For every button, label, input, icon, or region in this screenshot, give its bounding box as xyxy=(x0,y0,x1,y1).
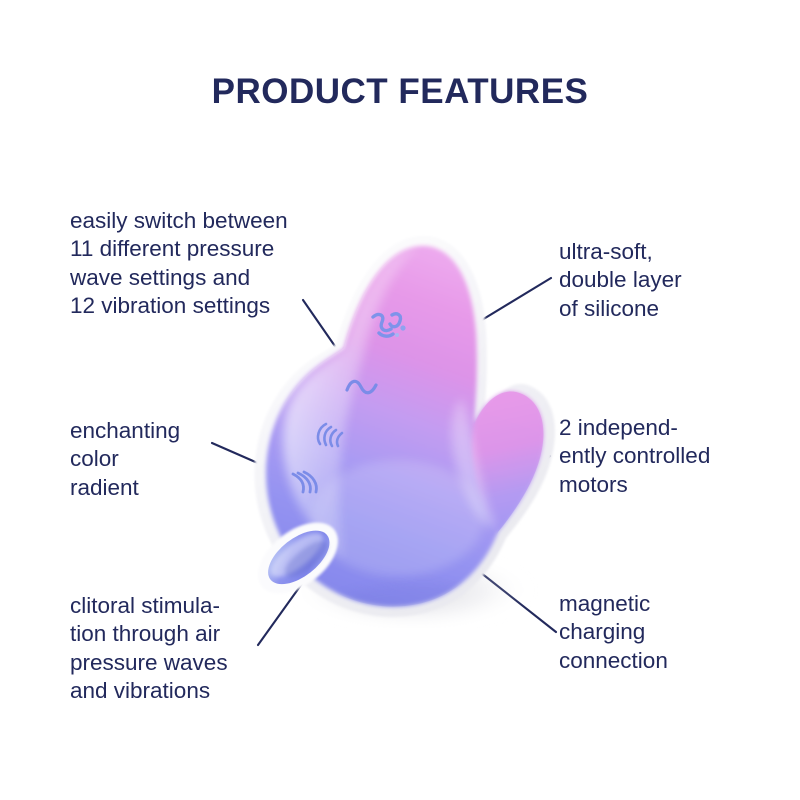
page-title: PRODUCT FEATURES xyxy=(0,74,800,109)
callout-settings-line-3: wave settings and xyxy=(70,264,288,292)
callout-charging-line-1: magnetic xyxy=(559,590,668,618)
callout-clitoral-stimulation: clitoral stimula- tion through air press… xyxy=(70,592,228,706)
callout-silicone-line-3: of silicone xyxy=(559,295,682,323)
callout-clitoral-line-2: tion through air xyxy=(70,620,228,648)
callout-gradient-line-3: radient xyxy=(70,474,180,502)
callout-gradient-line-2: color xyxy=(70,445,180,473)
callout-silicone: ultra-soft, double layer of silicone xyxy=(559,238,682,323)
callout-gradient: enchanting color radient xyxy=(70,417,180,502)
callout-clitoral-line-1: clitoral stimula- xyxy=(70,592,228,620)
callout-silicone-line-2: double layer xyxy=(559,266,682,294)
callout-charging-line-3: connection xyxy=(559,647,668,675)
callout-settings-line-1: easily switch between xyxy=(70,207,288,235)
callout-settings: easily switch between 11 different press… xyxy=(70,207,288,321)
callout-settings-line-2: 11 different pressure xyxy=(70,235,288,263)
callout-charging-line-2: charging xyxy=(559,618,668,646)
callout-settings-line-4: 12 vibration settings xyxy=(70,292,288,320)
product-illustration xyxy=(248,228,568,628)
callout-silicone-line-1: ultra-soft, xyxy=(559,238,682,266)
callout-motors-line-3: motors xyxy=(559,471,710,499)
product-shape-svg xyxy=(248,228,568,628)
callout-clitoral-line-4: and vibrations xyxy=(70,677,228,705)
callout-clitoral-line-3: pressure waves xyxy=(70,649,228,677)
callout-charging: magnetic charging connection xyxy=(559,590,668,675)
product-features-infographic: PRODUCT FEATURES xyxy=(0,0,800,800)
callout-motors: 2 independ- ently controlled motors xyxy=(559,414,710,499)
body-lower-glow xyxy=(312,460,484,576)
callout-motors-line-1: 2 independ- xyxy=(559,414,710,442)
callout-motors-line-2: ently controlled xyxy=(559,442,710,470)
callout-gradient-line-1: enchanting xyxy=(70,417,180,445)
